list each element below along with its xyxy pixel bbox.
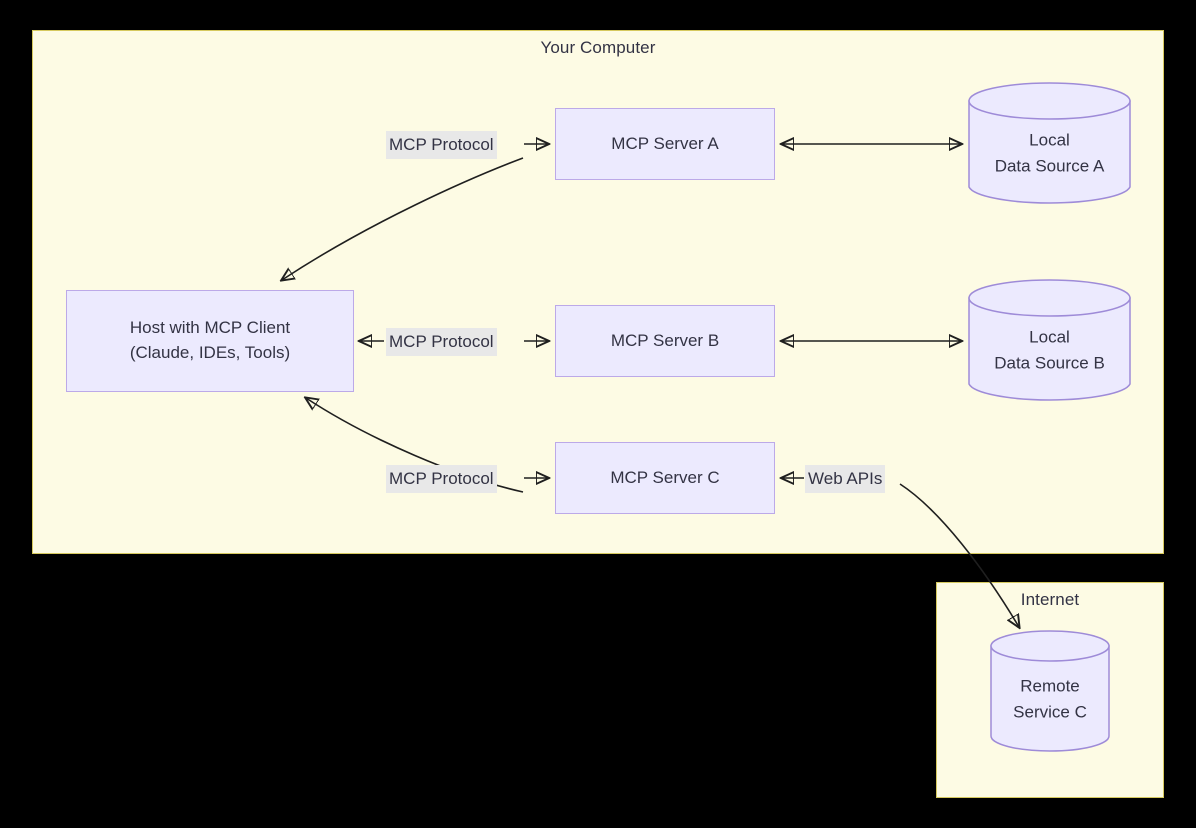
edge-label-mcp-protocol-b: MCP Protocol	[386, 328, 497, 356]
node-mcp-server-c[interactable]: MCP Server C	[555, 442, 775, 514]
node-local-data-source-b[interactable]: Local Data Source B	[968, 279, 1131, 403]
cylinder-icon	[968, 82, 1131, 206]
node-mcp-server-b[interactable]: MCP Server B	[555, 305, 775, 377]
node-local-data-source-a[interactable]: Local Data Source A	[968, 82, 1131, 206]
group-your-computer-title: Your Computer	[33, 38, 1163, 58]
group-internet-title: Internet	[937, 590, 1163, 610]
node-mcp-server-a-label: MCP Server A	[611, 132, 718, 157]
node-mcp-server-a[interactable]: MCP Server A	[555, 108, 775, 180]
cylinder-icon	[990, 630, 1110, 752]
cylinder-icon	[968, 279, 1131, 403]
node-host-with-mcp-client[interactable]: Host with MCP Client (Claude, IDEs, Tool…	[66, 290, 354, 392]
node-host-line1: Host with MCP Client	[130, 316, 290, 341]
node-remote-service-c[interactable]: Remote Service C	[990, 630, 1110, 752]
edge-label-mcp-protocol-c: MCP Protocol	[386, 465, 497, 493]
edge-label-web-apis: Web APIs	[805, 465, 885, 493]
diagram-canvas: Your Computer Internet	[0, 0, 1196, 828]
node-host-line2: (Claude, IDEs, Tools)	[130, 341, 290, 366]
node-mcp-server-c-label: MCP Server C	[610, 466, 719, 491]
edge-label-mcp-protocol-a: MCP Protocol	[386, 131, 497, 159]
node-mcp-server-b-label: MCP Server B	[611, 329, 719, 354]
